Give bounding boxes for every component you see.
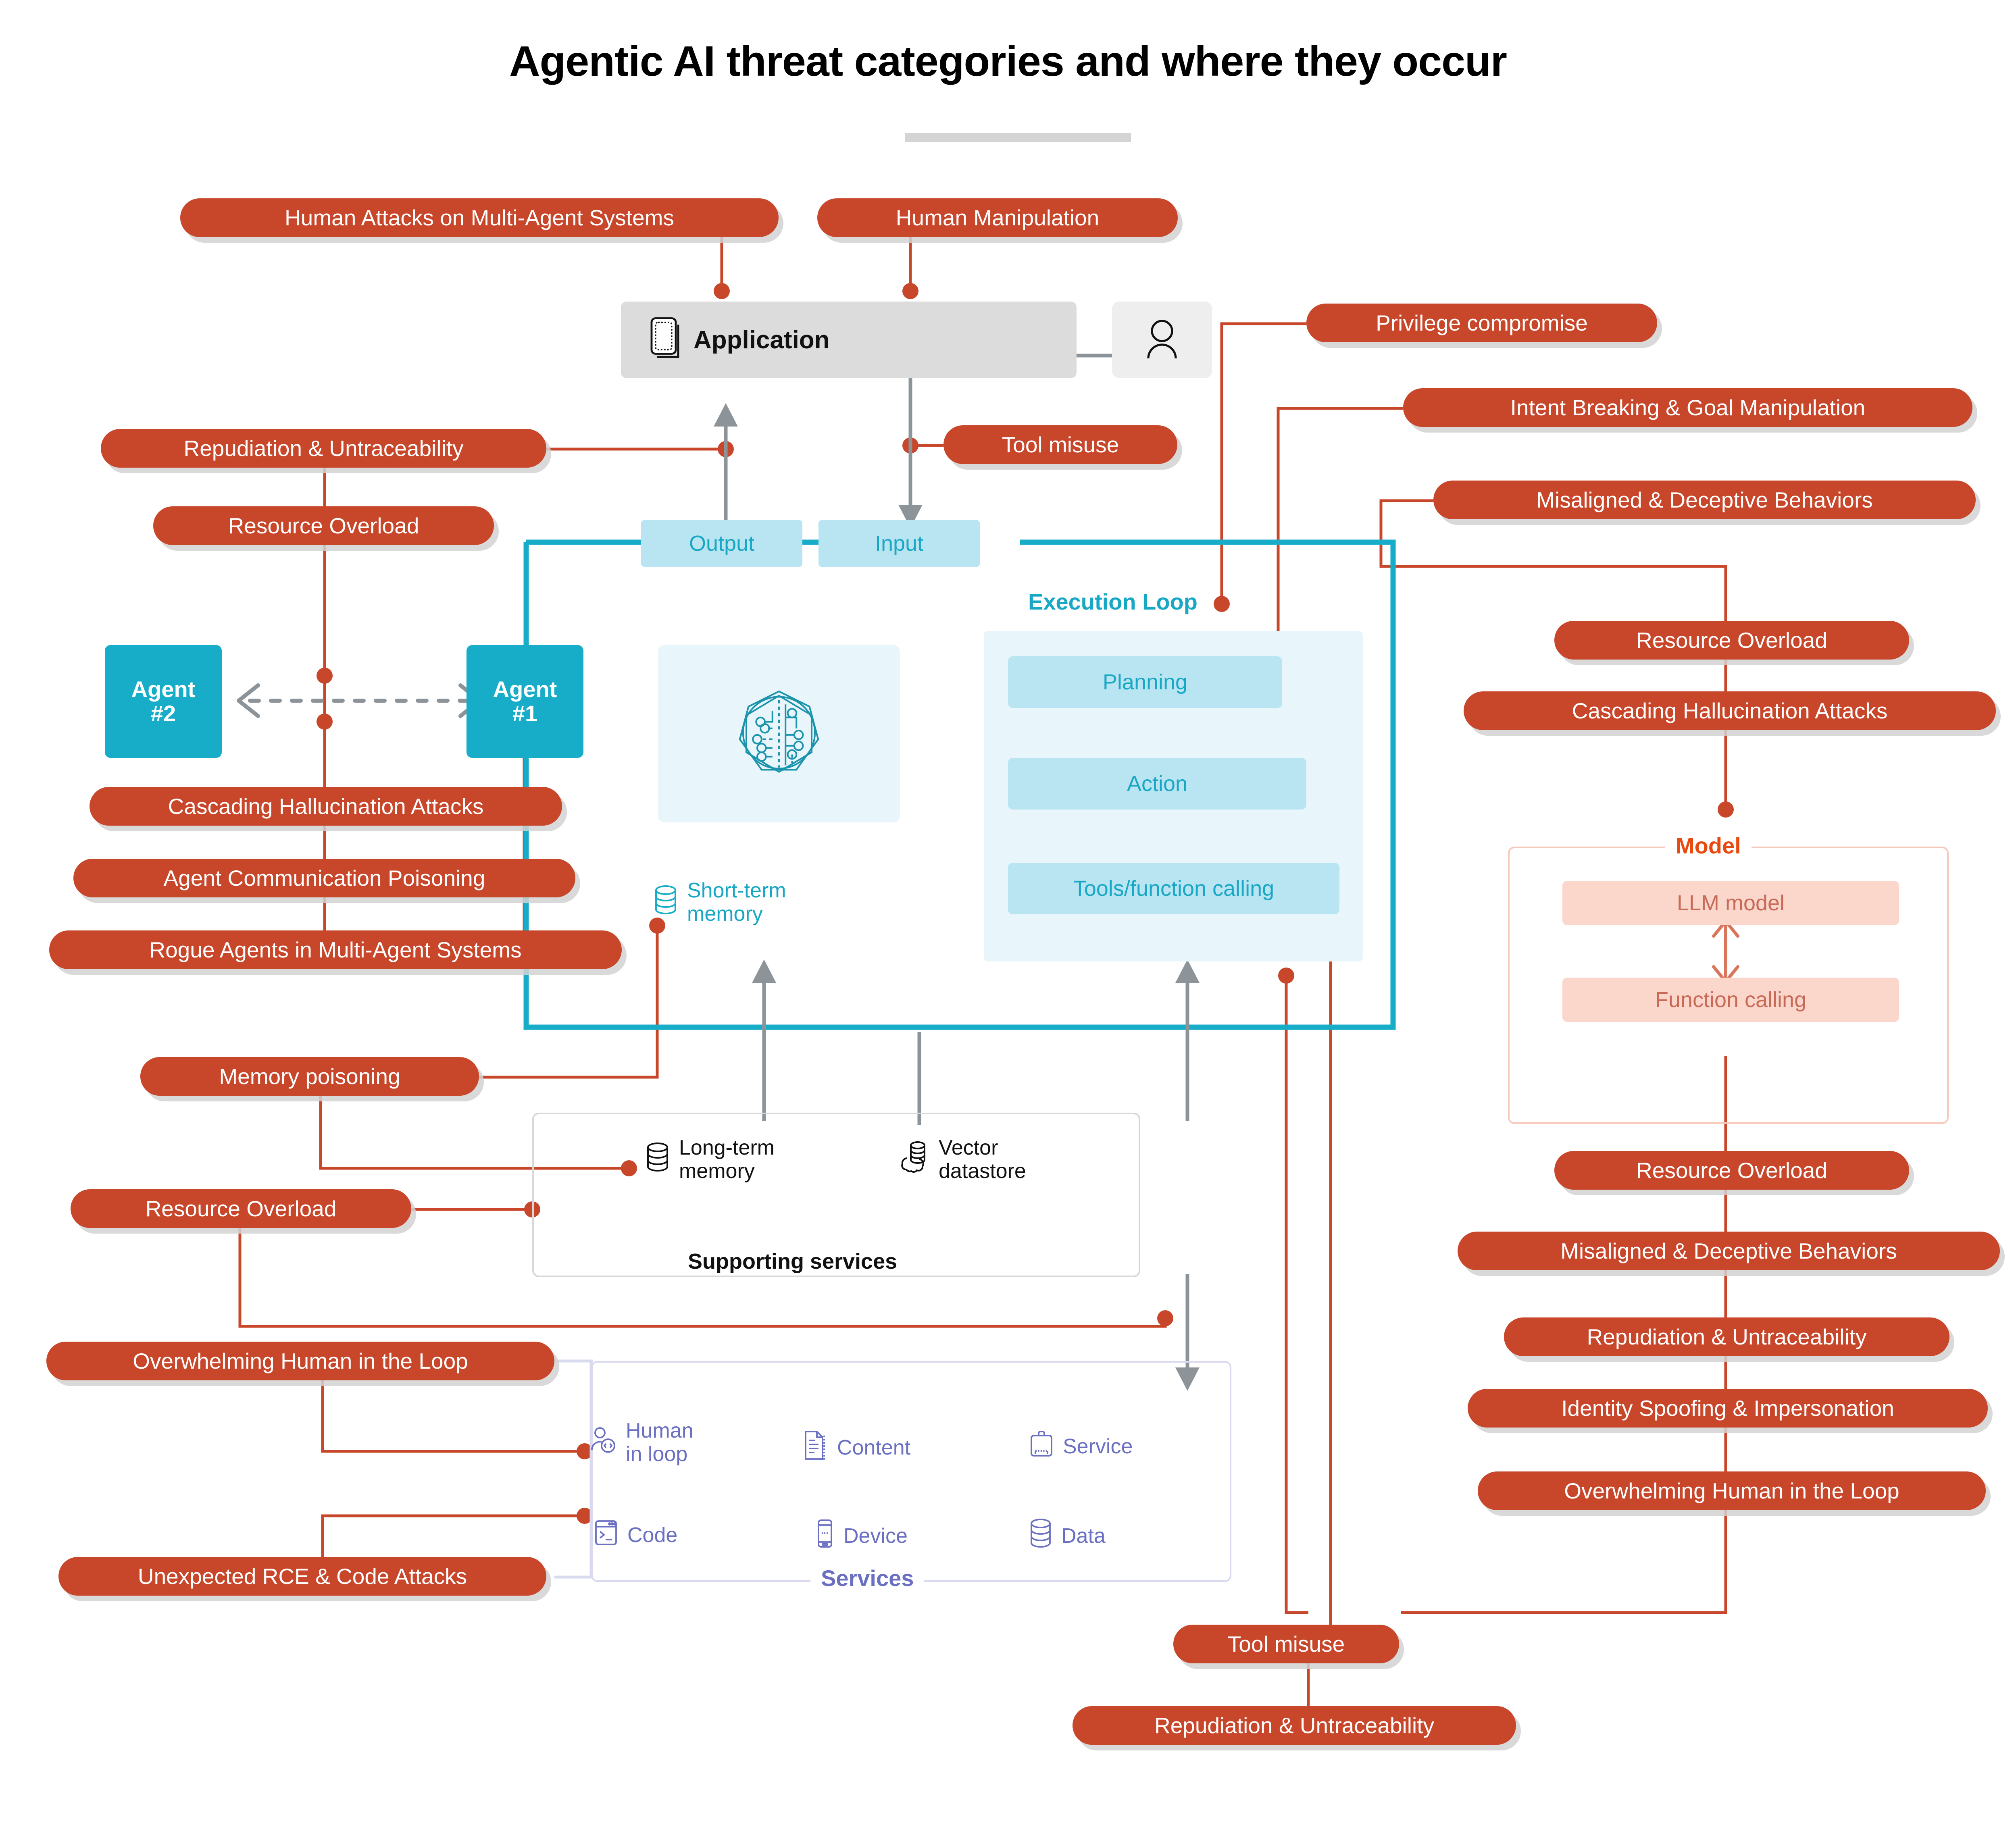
threat-pill-identity-spoofing[interactable]: Identity Spoofing & Impersonation [1468, 1389, 1988, 1428]
threat-pill-tool-misuse-top[interactable]: Tool misuse [943, 425, 1177, 464]
services-item-data: Data [1028, 1518, 1106, 1554]
threat-pill-overwhelming-human-left[interactable]: Overwhelming Human in the Loop [46, 1342, 554, 1380]
threat-pill-human-manipulation[interactable]: Human Manipulation [817, 198, 1178, 237]
services-item-service: Service [1028, 1429, 1133, 1464]
human-in-loop-icon [589, 1426, 618, 1459]
agent-2-line1: Agent [131, 677, 196, 701]
short-term-memory: Short-term memory [653, 879, 786, 926]
threat-pill-repudiation-bottom[interactable]: Repudiation & Untraceability [1073, 1706, 1516, 1745]
device-icon [814, 1518, 835, 1554]
model-chip-llm[interactable]: LLM model [1562, 881, 1899, 925]
execution-step-planning[interactable]: Planning [1008, 656, 1282, 708]
application-window-icon [649, 317, 686, 363]
supporting-item-vector-datastore: Vector datastore [899, 1136, 1026, 1183]
output-chip[interactable]: Output [641, 520, 802, 567]
supporting-services-label: Supporting services [677, 1249, 908, 1274]
input-chip[interactable]: Input [818, 520, 980, 567]
terminal-code-icon [593, 1518, 619, 1552]
threat-pill-repudiation-untrace-left[interactable]: Repudiation & Untraceability [101, 429, 546, 468]
threat-pill-intent-breaking[interactable]: Intent Breaking & Goal Manipulation [1403, 388, 1972, 427]
threat-pill-resource-overload-left2[interactable]: Resource Overload [71, 1189, 411, 1228]
long-term-memory-line2: memory [679, 1159, 775, 1183]
vector-datastore-icon [899, 1140, 930, 1178]
agent-1-line2: #1 [512, 701, 537, 726]
user-box[interactable] [1112, 302, 1212, 378]
services-item-label: Human in loop [626, 1419, 694, 1466]
agent-1-line1: Agent [493, 677, 557, 701]
ai-brain-circuit-icon [725, 678, 833, 789]
application-box[interactable]: Application [621, 302, 1077, 378]
ai-brain-card [658, 645, 900, 822]
database-icon [653, 884, 678, 920]
services-item-content: Content [802, 1429, 910, 1466]
threat-pill-agent-comm-poisoning[interactable]: Agent Communication Poisoning [73, 859, 575, 897]
threat-pill-overwhelming-human-right[interactable]: Overwhelming Human in the Loop [1478, 1471, 1986, 1510]
human-in-loop-line2: in loop [626, 1442, 694, 1466]
model-chip-function-calling[interactable]: Function calling [1562, 978, 1899, 1022]
threat-pill-rogue-agents[interactable]: Rogue Agents in Multi-Agent Systems [49, 930, 622, 969]
threat-pill-misaligned-deceptive-bot[interactable]: Misaligned & Deceptive Behaviors [1458, 1232, 2000, 1270]
supporting-item-label: Vector datastore [939, 1136, 1026, 1183]
device-label: Device [843, 1524, 908, 1548]
vector-datastore-line1: Vector [939, 1136, 1026, 1159]
supporting-item-label: Long-term memory [679, 1136, 775, 1183]
user-person-icon [1143, 318, 1181, 362]
short-term-memory-line1: Short-term [687, 879, 786, 902]
supporting-item-long-term-memory: Long-term memory [645, 1136, 775, 1183]
title-divider [905, 133, 1131, 142]
long-term-memory-line1: Long-term [679, 1136, 775, 1159]
model-group-label: Model [1665, 832, 1752, 859]
diagram-canvas: Agentic AI threat categories and where t… [0, 0, 2016, 1823]
code-label: Code [627, 1523, 677, 1547]
threat-pill-cascading-hallucination-r[interactable]: Cascading Hallucination Attacks [1464, 691, 1996, 730]
services-item-code: Code [593, 1518, 677, 1552]
vector-datastore-line2: datastore [939, 1159, 1026, 1183]
database-icon [645, 1142, 670, 1177]
document-content-icon [802, 1429, 829, 1466]
threat-pill-cascading-hallucination-l[interactable]: Cascading Hallucination Attacks [90, 787, 562, 826]
threat-pill-misaligned-deceptive-top[interactable]: Misaligned & Deceptive Behaviors [1433, 481, 1976, 519]
short-term-memory-line2: memory [687, 902, 786, 926]
threat-pill-resource-overload-right2[interactable]: Resource Overload [1554, 1151, 1909, 1190]
service-label: Service [1063, 1435, 1133, 1458]
threat-pill-memory-poisoning[interactable]: Memory poisoning [140, 1057, 479, 1096]
threat-pill-privilege-compromise[interactable]: Privilege compromise [1306, 304, 1657, 342]
agent-2-line2: #2 [151, 701, 176, 726]
human-in-loop-line1: Human [626, 1419, 694, 1442]
data-label: Data [1061, 1524, 1106, 1548]
threat-pill-unexpected-rce[interactable]: Unexpected RCE & Code Attacks [58, 1557, 546, 1596]
services-item-human-in-loop: Human in loop [589, 1419, 694, 1466]
services-item-device: Device [814, 1518, 908, 1554]
threat-pill-resource-overload-right1[interactable]: Resource Overload [1554, 621, 1909, 660]
threat-pill-tool-misuse-bottom[interactable]: Tool misuse [1173, 1625, 1399, 1663]
threat-pill-human-attacks-multi-agent[interactable]: Human Attacks on Multi-Agent Systems [180, 198, 779, 237]
content-label: Content [837, 1436, 910, 1459]
execution-step-tools[interactable]: Tools/function calling [1008, 863, 1339, 914]
threat-pill-resource-overload-left[interactable]: Resource Overload [153, 506, 494, 545]
services-group [591, 1361, 1231, 1582]
page-title: Agentic AI threat categories and where t… [0, 37, 2016, 86]
threat-pill-repudiation-untrace-right[interactable]: Repudiation & Untraceability [1504, 1317, 1949, 1356]
briefcase-service-icon [1028, 1429, 1055, 1464]
short-term-memory-label: Short-term memory [687, 879, 786, 926]
execution-loop-title: Execution Loop [1028, 589, 1198, 615]
services-group-label: Services [810, 1565, 924, 1591]
database-data-icon [1028, 1518, 1053, 1554]
execution-step-action[interactable]: Action [1008, 758, 1306, 810]
agent-1-box[interactable]: Agent #1 [467, 645, 583, 758]
application-label: Application [694, 326, 830, 354]
agent-2-box[interactable]: Agent #2 [105, 645, 222, 758]
